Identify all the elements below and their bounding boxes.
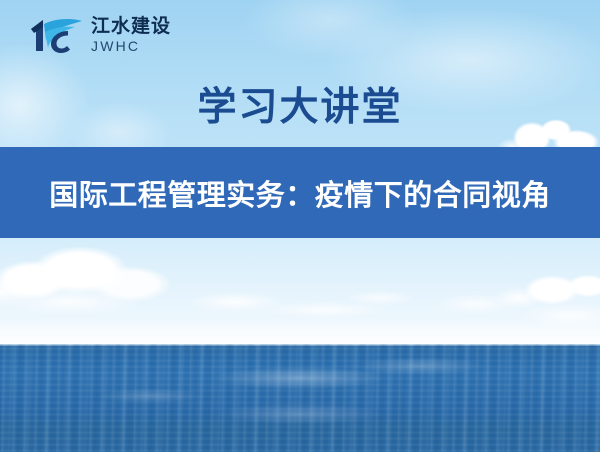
- logo-wordmark: 江水建设 JWHC: [91, 17, 171, 53]
- poster-banner-image: 江水建设 JWHC 学习大讲堂 国际工程管理实务：疫情下的合同视角: [0, 0, 600, 452]
- logo-company-name-en: JWHC: [91, 39, 171, 53]
- company-logo: 江水建设 JWHC: [26, 14, 171, 56]
- horizon-haze: [0, 318, 600, 344]
- lower-sky-cloud-bank: [0, 238, 600, 344]
- sea-sun-glint: [0, 344, 600, 452]
- poster-headline: 学习大讲堂: [0, 76, 600, 132]
- sea-background: [0, 344, 600, 452]
- jwhc-logo-mark-icon: [26, 14, 84, 56]
- banner-title-text: 国际工程管理实务：疫情下的合同视角: [49, 172, 551, 214]
- title-banner: 国际工程管理实务：疫情下的合同视角: [0, 147, 600, 238]
- logo-company-name-cn: 江水建设: [91, 17, 171, 36]
